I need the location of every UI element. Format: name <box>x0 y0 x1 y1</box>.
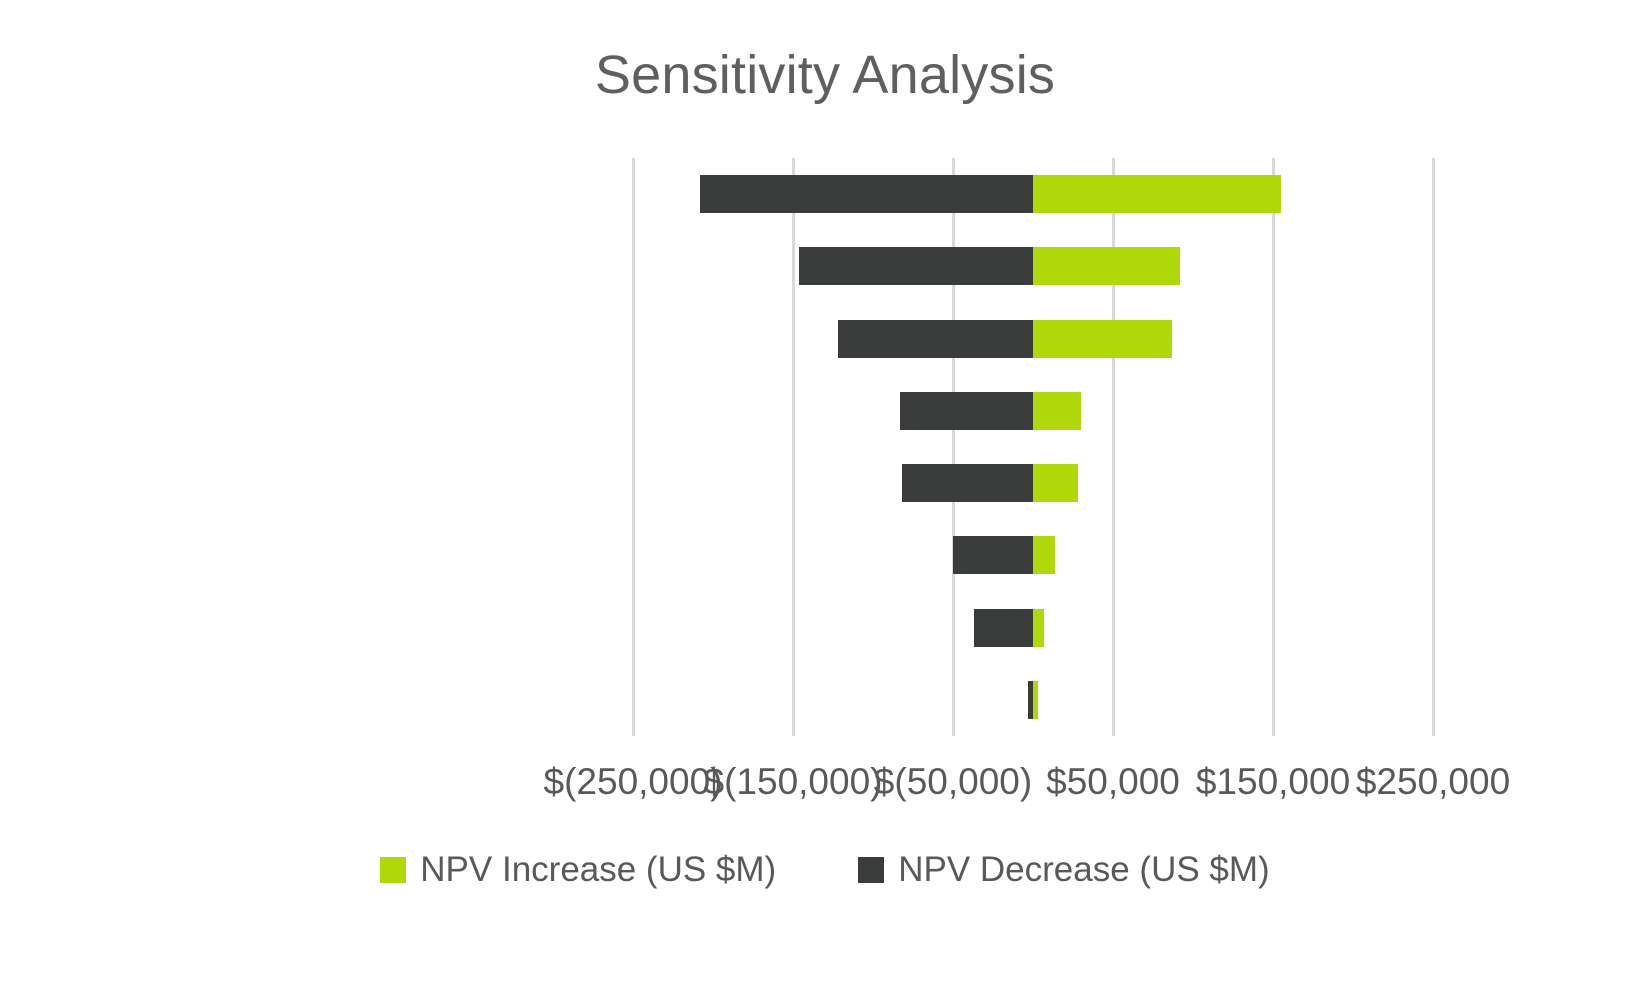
x-axis-tick-labels: $(250,000)$(150,000)$(50,000)$50,000$150… <box>0 760 1650 812</box>
chart-title: Sensitivity Analysis <box>0 44 1650 106</box>
bar-decrease-3 <box>900 392 1033 430</box>
bar-decrease-0 <box>700 175 1033 213</box>
bar-decrease-6 <box>974 609 1033 647</box>
bar-decrease-1 <box>799 247 1033 285</box>
x-tick-label-4: $150,000 <box>1196 760 1350 804</box>
sensitivity-analysis-chart: Sensitivity Analysis Boric Acid PriceAnn… <box>0 0 1650 990</box>
x-tick-label-1: $(150,000) <box>704 760 883 804</box>
category-row: Annual Production <box>553 230 1513 302</box>
x-tick-label-2: $(50,000) <box>874 760 1032 804</box>
bar-increase-7 <box>1033 681 1038 719</box>
bar-increase-2 <box>1033 320 1172 358</box>
bar-increase-0 <box>1033 175 1281 213</box>
bar-increase-6 <box>1033 609 1044 647</box>
plot-area: Boric Acid PriceAnnual ProductionDiscoun… <box>553 158 1513 736</box>
category-row: Capital Cost <box>553 447 1513 519</box>
x-tick-label-3: $50,000 <box>1046 760 1180 804</box>
legend-item-0[interactable]: NPV Increase (US $M) <box>380 852 776 887</box>
dark-square-icon <box>858 857 884 883</box>
category-row: Variable Cost Pricing <box>553 375 1513 447</box>
legend-item-1[interactable]: NPV Decrease (US $M) <box>858 852 1269 887</box>
bar-increase-1 <box>1033 247 1180 285</box>
category-row: Boric Acid Price <box>553 158 1513 230</box>
x-tick-label-0: $(250,000) <box>544 760 723 804</box>
category-row: Labor Cost <box>553 592 1513 664</box>
category-row: Gypsum Price <box>553 664 1513 736</box>
bar-increase-3 <box>1033 392 1081 430</box>
chart-legend: NPV Increase (US $M)NPV Decrease (US $M) <box>0 852 1650 887</box>
x-tick-label-5: $250,000 <box>1356 760 1510 804</box>
green-square-icon <box>380 857 406 883</box>
legend-label-0: NPV Increase (US $M) <box>420 852 776 887</box>
bar-decrease-5 <box>953 536 1033 574</box>
bar-decrease-4 <box>902 464 1033 502</box>
category-row: Raw Material Acid Utilization <box>553 519 1513 591</box>
bar-increase-5 <box>1033 536 1055 574</box>
category-row: Discount Rate <box>553 303 1513 375</box>
bar-increase-4 <box>1033 464 1078 502</box>
bar-decrease-2 <box>838 320 1033 358</box>
legend-label-1: NPV Decrease (US $M) <box>898 852 1269 887</box>
